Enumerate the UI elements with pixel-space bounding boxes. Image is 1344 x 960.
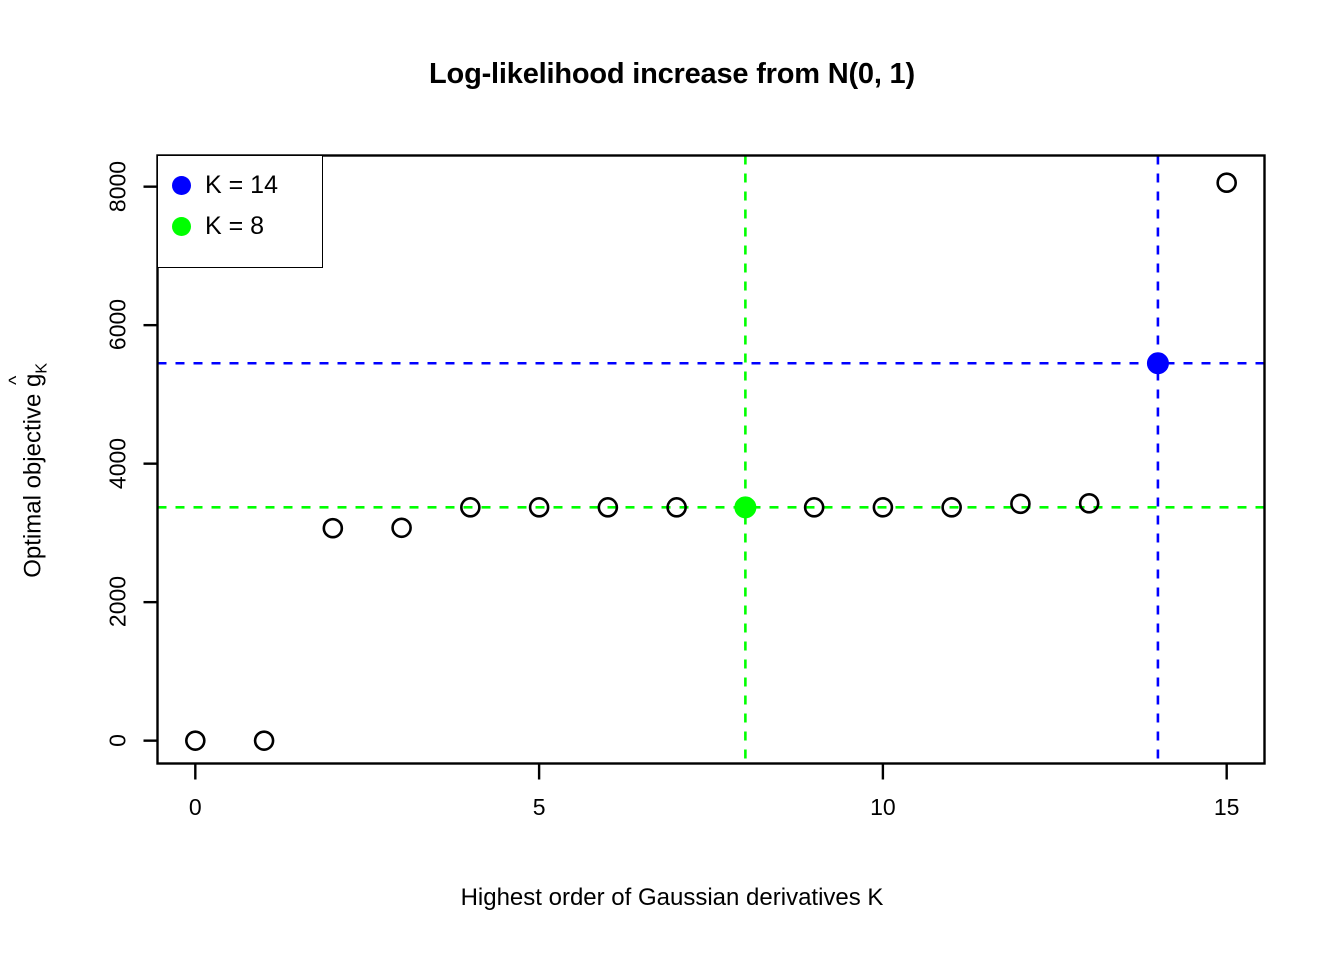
x-tick-label-0: 0 <box>155 794 235 821</box>
data-point-highlight-k8 <box>735 497 756 518</box>
plot-frame-rect <box>158 156 1265 764</box>
y-tick-label-1: 2000 <box>104 532 131 672</box>
y-tick-label-2: 4000 <box>104 393 131 533</box>
legend-entry-k8: K = 8 <box>172 214 264 239</box>
legend-color-swatch-blue <box>172 176 191 195</box>
plot-frame <box>158 156 1265 764</box>
y-tick-label-3: 6000 <box>104 255 131 395</box>
data-point-k1 <box>255 732 273 750</box>
legend-label-k8: K = 8 <box>205 214 264 239</box>
y-tick-label-0: 0 <box>104 670 131 810</box>
y-axis-title-prefix: Optimal objective <box>20 387 47 578</box>
chart-plot-area: Log-likelihood increase from N(0, 1) 020… <box>0 0 1344 960</box>
x-tick-label-3: 15 <box>1187 794 1267 821</box>
chart-legend: K = 14 K = 8 <box>157 155 323 268</box>
data-point-k15 <box>1218 174 1236 192</box>
legend-label-k14: K = 14 <box>205 173 278 198</box>
x-tick-label-1: 5 <box>499 794 579 821</box>
y-axis-title: Optimal objective ^gK <box>20 160 51 780</box>
data-point-k13 <box>1080 494 1098 512</box>
x-tick-label-2: 10 <box>843 794 923 821</box>
data-point-k2 <box>324 519 342 537</box>
axis-ticks <box>144 187 1227 780</box>
legend-entry-k14: K = 14 <box>172 173 278 198</box>
y-tick-label-4: 8000 <box>104 116 131 256</box>
data-points <box>186 174 1235 750</box>
y-axis-subscript: K <box>33 363 50 374</box>
legend-color-swatch-green <box>172 217 191 236</box>
data-point-k0 <box>186 732 204 750</box>
hat-accent: ^ <box>7 374 27 387</box>
x-axis-title: Highest order of Gaussian derivatives K <box>0 884 1344 912</box>
y-axis-title-symbol: ^g <box>20 374 48 387</box>
data-point-highlight-k14 <box>1147 353 1168 374</box>
highlight-gridlines <box>158 156 1265 764</box>
data-point-k12 <box>1011 495 1029 513</box>
data-point-k3 <box>393 519 411 537</box>
